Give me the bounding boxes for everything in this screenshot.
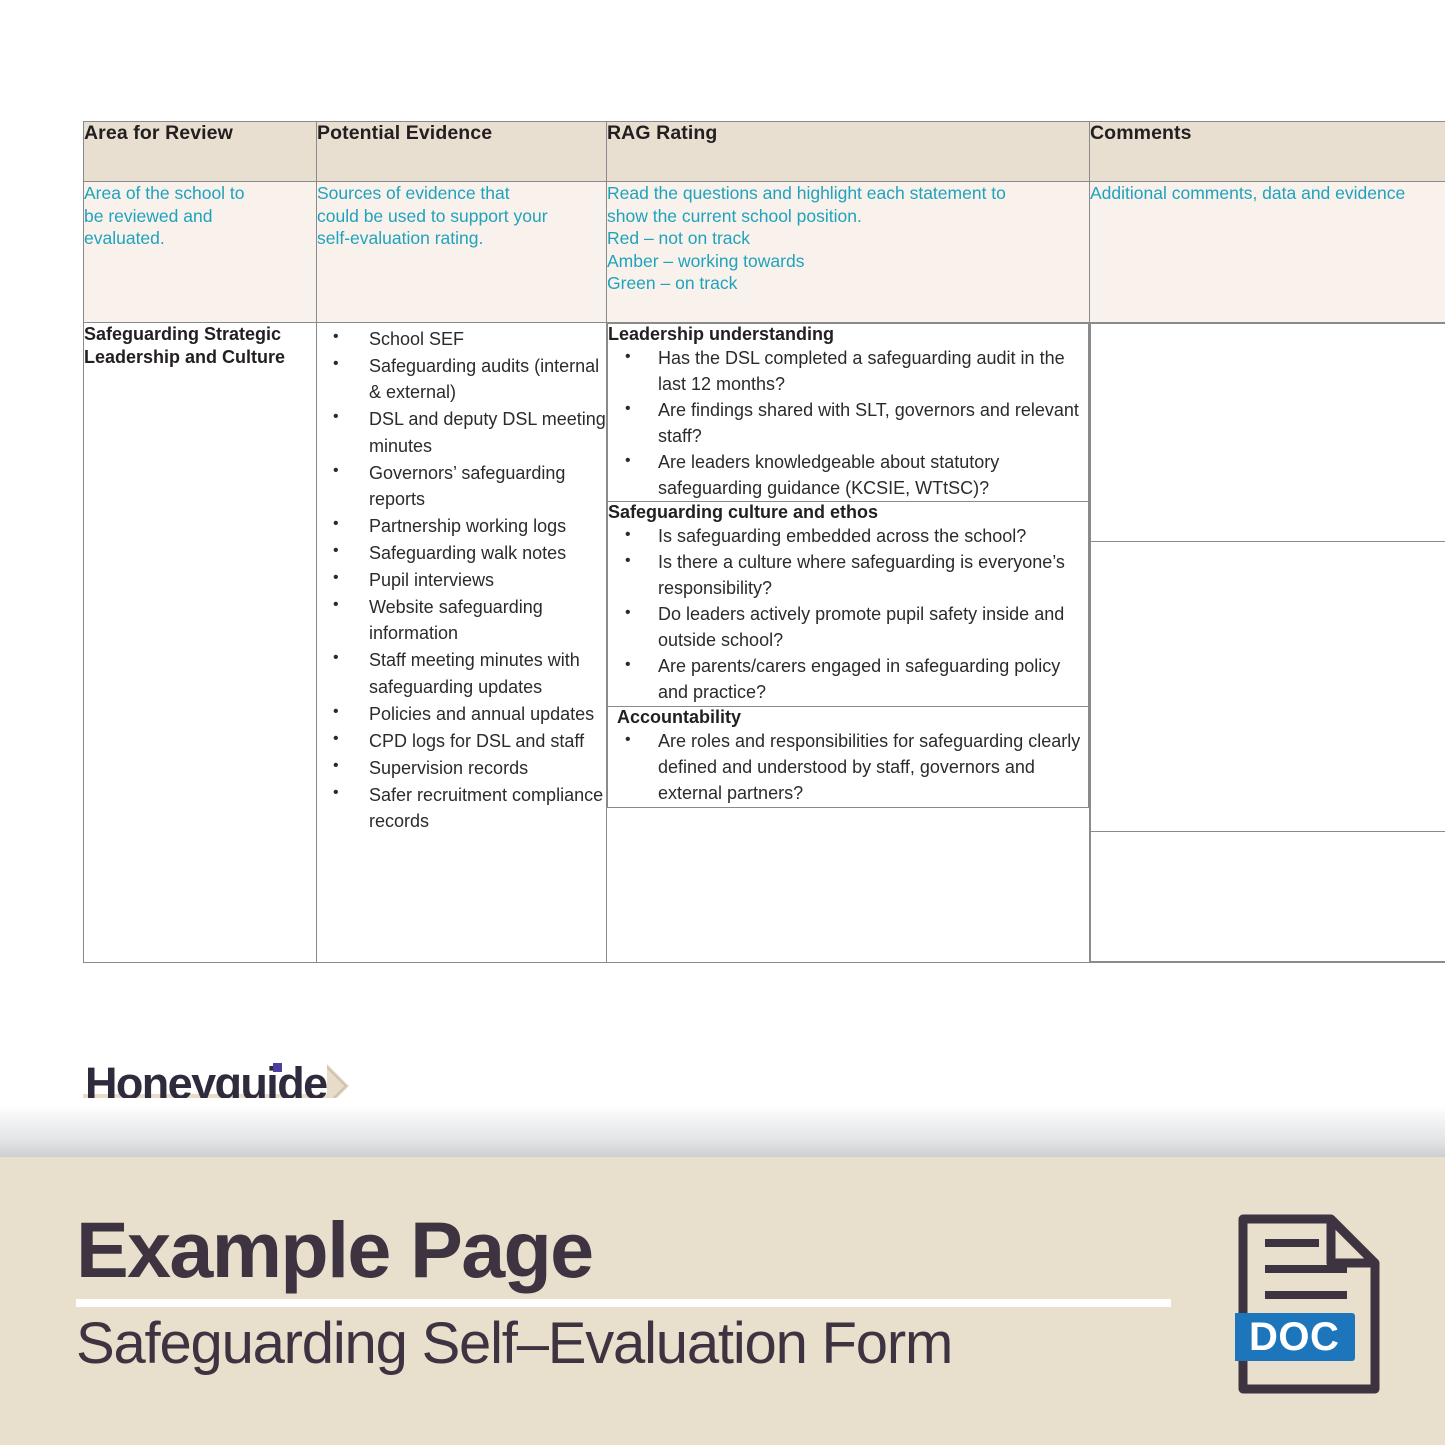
list-item: Are parents/carers engaged in safeguardi…: [608, 654, 1088, 706]
rag-legend-red: Red – not on track: [607, 227, 1089, 250]
list-item: Safeguarding audits (internal & external…: [333, 353, 606, 406]
instruction-cell-rag: Read the questions and highlight each st…: [607, 182, 1090, 323]
list-item: Are findings shared with SLT, governors …: [608, 398, 1088, 450]
list-item: Safeguarding walk notes: [333, 540, 606, 566]
comments-row: [1091, 324, 1445, 542]
document-page: Area for Review Potential Evidence RAG R…: [0, 0, 1445, 1445]
rag-subtable: Leadership understanding Has the DSL com…: [607, 323, 1089, 808]
self-evaluation-table: Area for Review Potential Evidence RAG R…: [83, 121, 1445, 963]
doc-badge-label: DOC: [1249, 1315, 1339, 1359]
list-item: School SEF: [333, 326, 606, 352]
column-header-rag-rating: RAG Rating: [607, 122, 1090, 182]
cell-potential-evidence: School SEF Safeguarding audits (internal…: [317, 323, 607, 963]
column-header-label: RAG Rating: [607, 122, 717, 144]
instruction-text-rag: Read the questions and highlight each st…: [607, 182, 1089, 295]
instruction-line: show the current school position.: [607, 205, 1089, 228]
instruction-cell-area: Area of the school to be reviewed and ev…: [84, 182, 317, 323]
list-item: Supervision records: [333, 755, 606, 781]
list-item: Is there a culture where safeguarding is…: [608, 550, 1088, 602]
comments-input-culture[interactable]: [1091, 542, 1445, 832]
column-header-label: Comments: [1090, 122, 1192, 144]
instruction-text-area: Area of the school to be reviewed and ev…: [84, 182, 316, 250]
rag-group-safeguarding-culture-and-ethos: Safeguarding culture and ethos Is safegu…: [608, 502, 1089, 706]
instruction-line: Area of the school to: [84, 182, 316, 205]
doc-file-icon: DOC: [1235, 1213, 1385, 1395]
list-item: Are roles and responsibilities for safeg…: [608, 729, 1088, 807]
rag-question-list: Has the DSL completed a safeguarding aud…: [608, 346, 1088, 501]
cell-area-for-review: Safeguarding Strategic Leadership and Cu…: [84, 323, 317, 963]
rag-question-list: Are roles and responsibilities for safeg…: [608, 729, 1088, 807]
comments-input-leadership[interactable]: [1091, 324, 1445, 542]
instruction-line: be reviewed and: [84, 205, 316, 228]
rag-group-leadership-understanding: Leadership understanding Has the DSL com…: [608, 324, 1089, 502]
list-item: Pupil interviews: [333, 567, 606, 593]
area-title: Safeguarding Strategic Leadership and Cu…: [84, 323, 316, 369]
rag-legend-green: Green – on track: [607, 272, 1089, 295]
rag-legend-amber: Amber – working towards: [607, 250, 1089, 273]
instruction-text-comments: Additional comments, data and evidence: [1090, 182, 1445, 205]
banner-title: Example Page: [76, 1210, 593, 1289]
logo-dot-icon: [273, 1063, 282, 1072]
list-item: Is safeguarding embedded across the scho…: [608, 524, 1088, 550]
column-header-label: Area for Review: [84, 122, 233, 144]
table-instruction-row: Area of the school to be reviewed and ev…: [84, 182, 1445, 323]
column-header-area-for-review: Area for Review: [84, 122, 317, 182]
instruction-text-evidence: Sources of evidence that could be used t…: [317, 182, 606, 250]
gradient-divider: [0, 1098, 1445, 1157]
rag-group-title: Safeguarding culture and ethos: [608, 502, 1088, 523]
list-item: Staff meeting minutes with safeguarding …: [333, 647, 606, 700]
list-item: Governors’ safeguarding reports: [333, 460, 606, 513]
evidence-list: School SEF Safeguarding audits (internal…: [317, 326, 606, 835]
list-item: Website safeguarding information: [333, 594, 606, 647]
instruction-line: evaluated.: [84, 227, 316, 250]
list-item: CPD logs for DSL and staff: [333, 728, 606, 754]
table-content-row: Safeguarding Strategic Leadership and Cu…: [84, 323, 1445, 963]
column-header-label: Potential Evidence: [317, 122, 492, 144]
rag-group-accountability: Accountability Are roles and responsibil…: [608, 706, 1089, 807]
banner-rule: [76, 1299, 1171, 1307]
cell-rag-rating: Leadership understanding Has the DSL com…: [607, 323, 1090, 963]
rag-group-title: Accountability: [608, 707, 1088, 728]
rag-question-list: Is safeguarding embedded across the scho…: [608, 524, 1088, 705]
rag-group-row: Accountability Are roles and responsibil…: [608, 706, 1089, 807]
comments-row: [1091, 542, 1445, 832]
cell-comments: [1090, 323, 1445, 963]
table-header-row: Area for Review Potential Evidence RAG R…: [84, 122, 1445, 182]
banner-subtitle: Safeguarding Self–Evaluation Form: [76, 1312, 952, 1376]
rag-group-row: Safeguarding culture and ethos Is safegu…: [608, 502, 1089, 706]
list-item: Policies and annual updates: [333, 701, 606, 727]
column-header-potential-evidence: Potential Evidence: [317, 122, 607, 182]
comments-row: [1091, 832, 1445, 962]
list-item: Has the DSL completed a safeguarding aud…: [608, 346, 1088, 398]
instruction-cell-comments: Additional comments, data and evidence: [1090, 182, 1445, 323]
instruction-line: Additional comments, data and evidence: [1090, 182, 1445, 205]
instruction-line: could be used to support your: [317, 205, 606, 228]
list-item: Are leaders knowledgeable about statutor…: [608, 450, 1088, 502]
instruction-line: Read the questions and highlight each st…: [607, 182, 1089, 205]
list-item: DSL and deputy DSL meeting minutes: [333, 406, 606, 459]
comments-subtable: [1090, 323, 1445, 962]
instruction-line: Sources of evidence that: [317, 182, 606, 205]
instruction-line: self-evaluation rating.: [317, 227, 606, 250]
list-item: Do leaders actively promote pupil safety…: [608, 602, 1088, 654]
instruction-cell-evidence: Sources of evidence that could be used t…: [317, 182, 607, 323]
rag-group-row: Leadership understanding Has the DSL com…: [608, 324, 1089, 502]
comments-input-accountability[interactable]: [1091, 832, 1445, 962]
rag-group-title: Leadership understanding: [608, 324, 1088, 345]
column-header-comments: Comments: [1090, 122, 1445, 182]
list-item: Safer recruitment compliance records: [333, 782, 606, 835]
list-item: Partnership working logs: [333, 513, 606, 539]
